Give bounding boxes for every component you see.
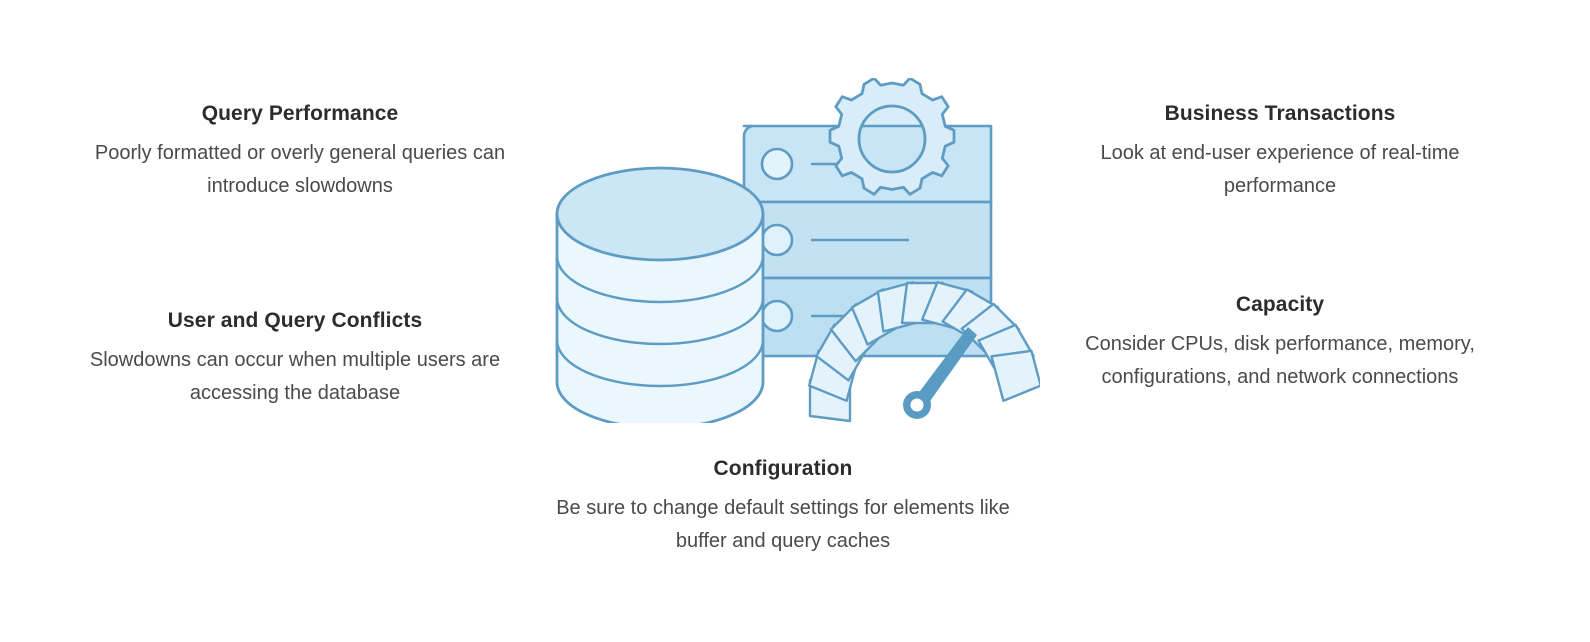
database-server-performance-illustration (540, 78, 1040, 423)
factor-business-transactions-title: Business Transactions (1050, 100, 1510, 127)
factor-user-and-query-conflicts: User and Query Conflicts Slowdowns can o… (55, 307, 535, 409)
server-led-icon (762, 225, 792, 255)
factor-configuration-body: Be sure to change default settings for e… (548, 492, 1018, 557)
factor-user-and-query-conflicts-body: Slowdowns can occur when multiple users … (55, 344, 535, 409)
server-led-icon (762, 301, 792, 331)
factor-capacity-body: Consider CPUs, disk performance, memory,… (1045, 328, 1515, 393)
database-cylinder-icon (557, 168, 763, 423)
factor-business-transactions-body: Look at end-user experience of real-time… (1050, 137, 1510, 202)
factor-configuration: Configuration Be sure to change default … (548, 455, 1018, 557)
factor-capacity-title: Capacity (1045, 291, 1515, 318)
infographic-page: Query Performance Poorly formatted or ov… (0, 0, 1590, 642)
factor-configuration-title: Configuration (548, 455, 1018, 482)
factor-query-performance: Query Performance Poorly formatted or ov… (60, 100, 540, 202)
factor-user-and-query-conflicts-title: User and Query Conflicts (55, 307, 535, 334)
server-led-icon (762, 149, 792, 179)
factor-query-performance-body: Poorly formatted or overly general queri… (60, 137, 540, 202)
factor-business-transactions: Business Transactions Look at end-user e… (1050, 100, 1510, 202)
factor-capacity: Capacity Consider CPUs, disk performance… (1045, 291, 1515, 393)
factor-query-performance-title: Query Performance (60, 100, 540, 127)
